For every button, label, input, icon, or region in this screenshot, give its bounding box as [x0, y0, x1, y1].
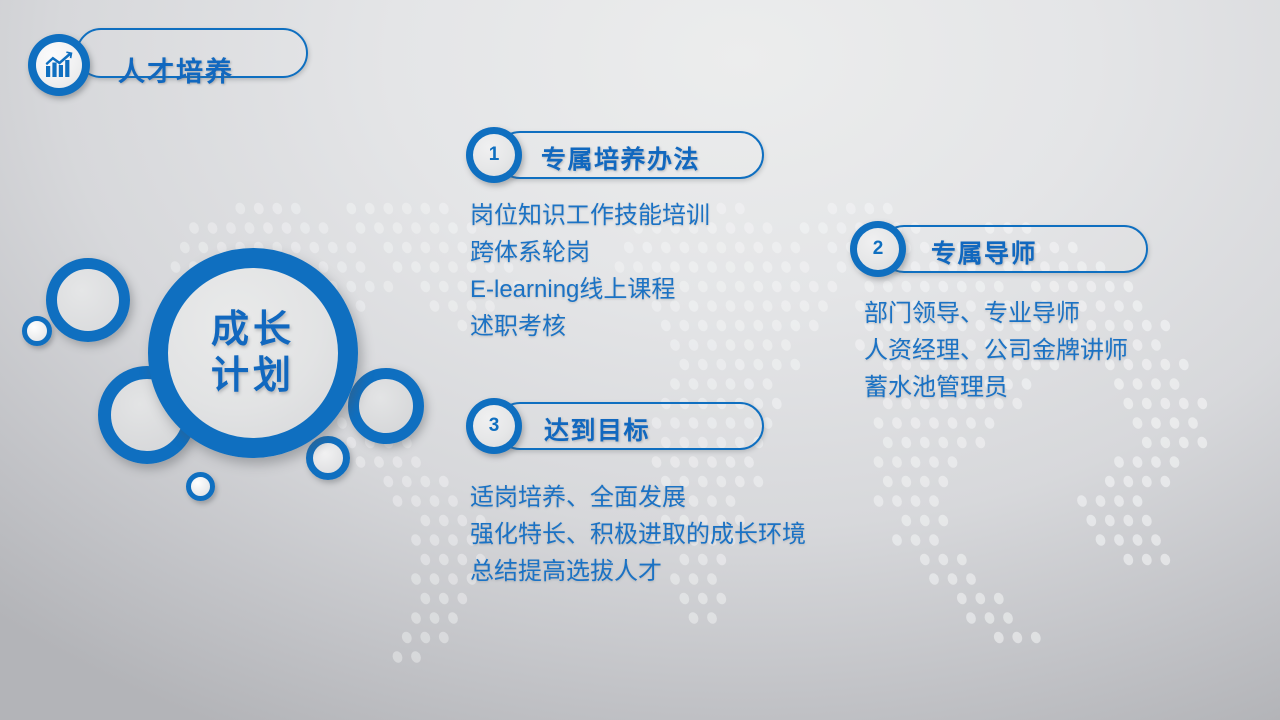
- bar-chart-growth-icon: [36, 42, 82, 88]
- decor-ring-top-left: [46, 258, 130, 342]
- block-3-body: 适岗培养、全面发展 强化特长、积极进取的成长环境 总结提高选拔人才: [470, 479, 806, 590]
- block-2-number: 2: [857, 228, 899, 270]
- growth-plan-line-1: 成长: [211, 307, 295, 353]
- block-1-body: 岗位知识工作技能培训 跨体系轮岗 E-learning线上课程 述职考核: [470, 197, 710, 345]
- block-3-line-3: 总结提高选拔人才: [470, 553, 806, 590]
- block-2-line-3: 蓄水池管理员: [864, 369, 1128, 406]
- block-1-line-4: 述职考核: [470, 308, 710, 345]
- block-3-line-2: 强化特长、积极进取的成长环境: [470, 516, 806, 553]
- block-3-line-1: 适岗培养、全面发展: [470, 479, 806, 516]
- decor-ring-bottom-right: [348, 368, 424, 444]
- block-2-line-1: 部门领导、专业导师: [864, 295, 1128, 332]
- decor-ring-small-right: [306, 436, 350, 480]
- block-2-title: 专属导师: [931, 234, 1037, 270]
- block-2-line-2: 人资经理、公司金牌讲师: [864, 332, 1128, 369]
- block-1-line-1: 岗位知识工作技能培训: [470, 197, 710, 234]
- decor-ring-tiny-left: [22, 316, 52, 346]
- block-1-number: 1: [473, 134, 515, 176]
- block-1-title: 专属培养办法: [541, 140, 700, 176]
- block-2-body: 部门领导、专业导师 人资经理、公司金牌讲师 蓄水池管理员: [864, 295, 1128, 406]
- slide-canvas: 人才培养 1 专属培养办法 岗位知识工作技能培训 跨体系轮岗 E-learnin…: [0, 0, 1280, 720]
- growth-plan-circle: 成长 计划: [148, 248, 358, 458]
- page-title: 人才培养: [118, 50, 234, 89]
- growth-plan-line-2: 计划: [211, 353, 295, 399]
- header-badge: [28, 34, 90, 96]
- growth-plan-label: 成长 计划: [168, 268, 338, 438]
- block-1-number-badge: 1: [466, 127, 522, 183]
- decor-ring-tiny-bottom: [186, 472, 215, 501]
- block-2-number-badge: 2: [850, 221, 906, 277]
- block-3-number-badge: 3: [466, 398, 522, 454]
- block-3-title: 达到目标: [544, 411, 650, 447]
- block-1-line-3: E-learning线上课程: [470, 271, 710, 308]
- block-3-number: 3: [473, 405, 515, 447]
- block-1-line-2: 跨体系轮岗: [470, 234, 710, 271]
